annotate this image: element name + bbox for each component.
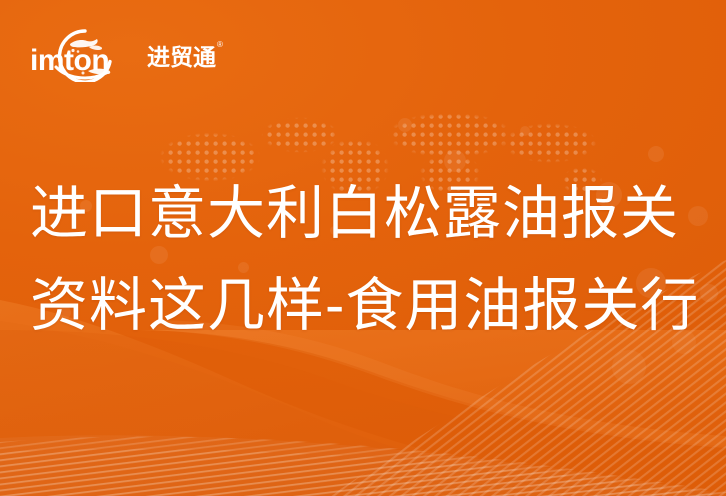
brand-logo[interactable]: imton 进贸通 ® bbox=[26, 26, 222, 82]
globe-emblem-icon: imton bbox=[26, 26, 144, 82]
trademark-icon: ® bbox=[217, 41, 223, 49]
svg-text:imton: imton bbox=[30, 44, 109, 77]
headline-line-1: 进口意大利白松露油报关 bbox=[30, 168, 710, 260]
brand-chinese-name: 进贸通 bbox=[147, 46, 216, 69]
promo-banner: imton 进贸通 ® 进口意大利白松露油报关 资料这几样-食用油报关行 bbox=[0, 0, 726, 496]
headline: 进口意大利白松露油报关 资料这几样-食用油报关行 bbox=[30, 168, 710, 352]
headline-line-2: 资料这几样-食用油报关行 bbox=[30, 260, 710, 352]
